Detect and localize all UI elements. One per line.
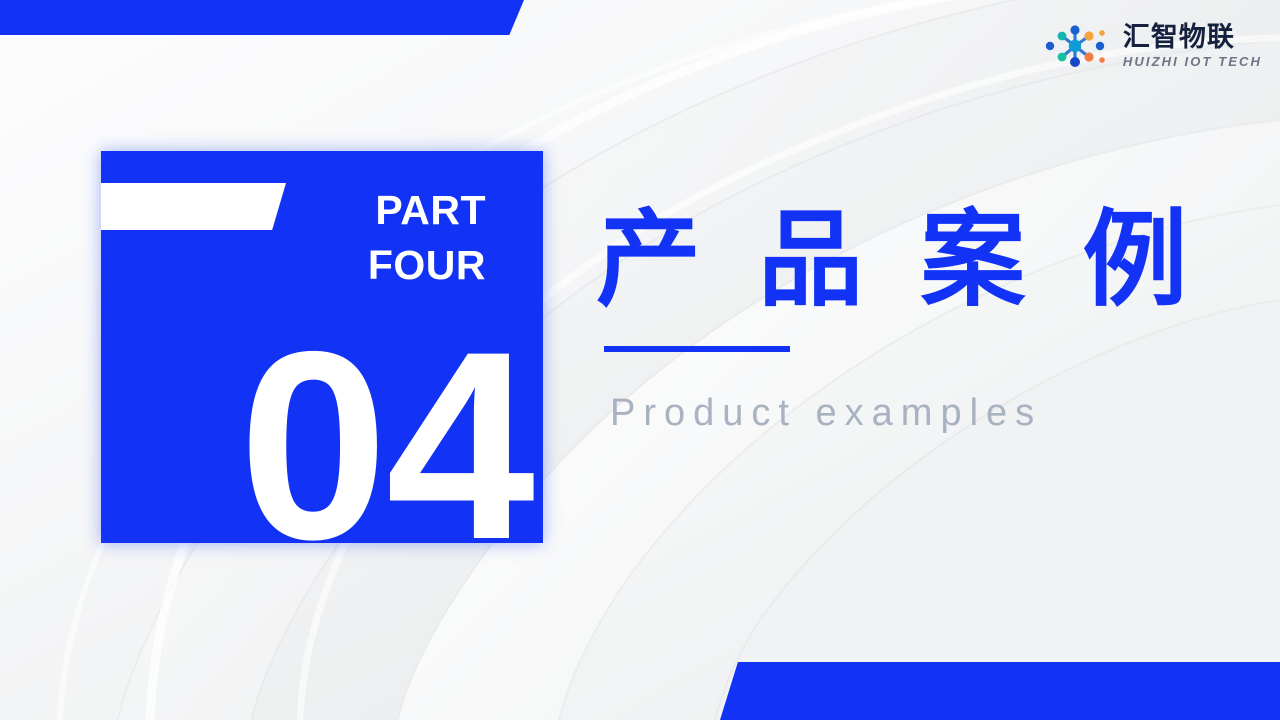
company-logo: 汇智物联 HUIZHI IOT TECH	[1042, 24, 1262, 68]
section-number: 04	[101, 311, 533, 579]
logo-wordmark: 汇智物联 HUIZHI IOT TECH	[1123, 24, 1262, 68]
accent-bar-top-left	[0, 0, 524, 35]
part-label-word: PART	[368, 183, 486, 238]
section-title-block: 产 品 案 例 Product examples	[596, 206, 1202, 435]
section-title-chinese: 产 品 案 例	[596, 206, 1202, 316]
logo-english-name: HUIZHI IOT TECH	[1123, 55, 1262, 68]
huizhi-network-nodes-icon	[1042, 24, 1114, 68]
section-number-card: PART FOUR 04	[101, 151, 543, 543]
logo-chinese-name: 汇智物联	[1123, 24, 1235, 51]
white-accent-bar	[101, 183, 286, 230]
slide-canvas: 汇智物联 HUIZHI IOT TECH PART FOUR 04 产 品 案 …	[0, 0, 1280, 720]
title-underline-rule	[604, 346, 790, 352]
section-title-english: Product examples	[610, 392, 1202, 435]
accent-bar-bottom-right	[720, 662, 1280, 720]
part-label-ordinal: FOUR	[368, 238, 486, 293]
part-label: PART FOUR	[368, 183, 486, 294]
